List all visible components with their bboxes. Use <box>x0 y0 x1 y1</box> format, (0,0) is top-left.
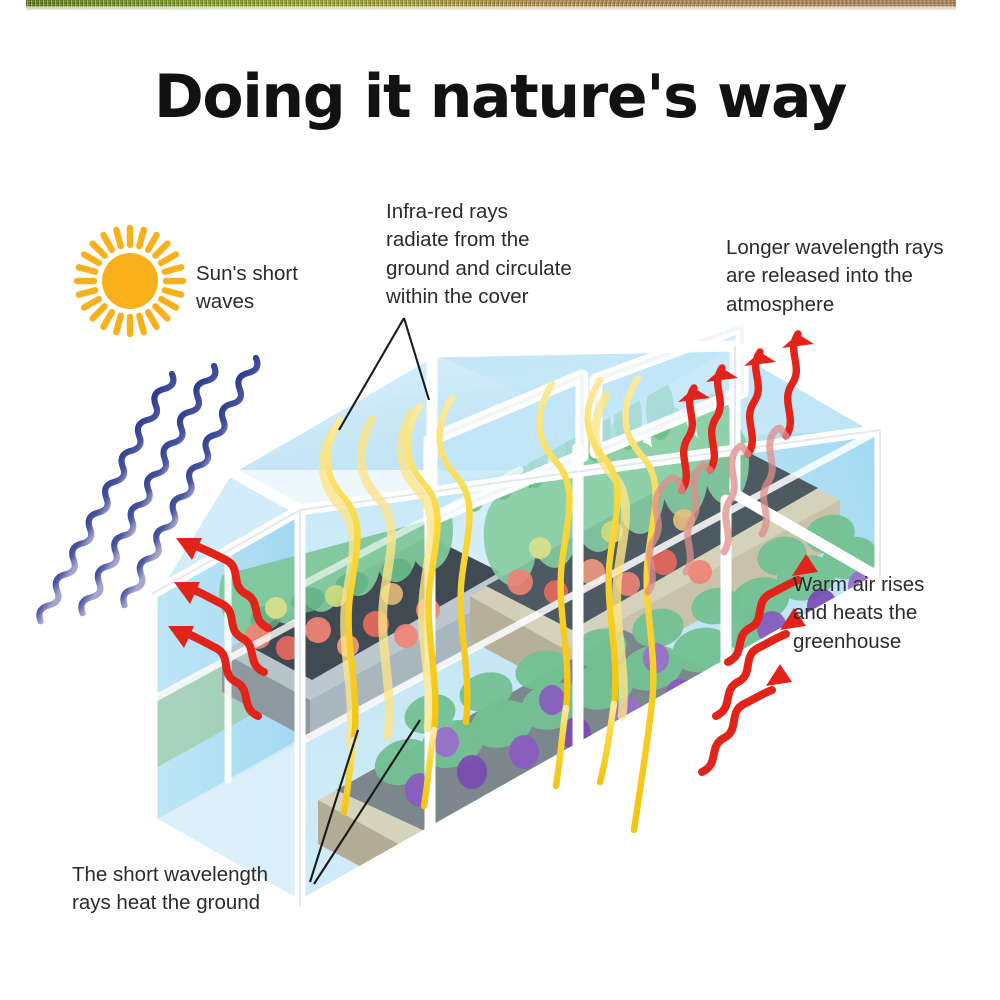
label-infrared-rays: Infra-red rays radiate from the ground a… <box>386 198 616 311</box>
label-warm-air-rises: Warm air rises and heats the greenhouse <box>793 571 993 656</box>
label-longer-wavelength: Longer wavelength rays are released into… <box>726 234 976 319</box>
label-suns-short-waves: Sun's short waves <box>196 260 386 317</box>
infographic-canvas: Doing it nature's way <box>0 0 1000 1000</box>
greenhouse-illustration <box>0 0 1000 1000</box>
label-short-wavelength-ground: The short wavelength rays heat the groun… <box>72 861 332 918</box>
